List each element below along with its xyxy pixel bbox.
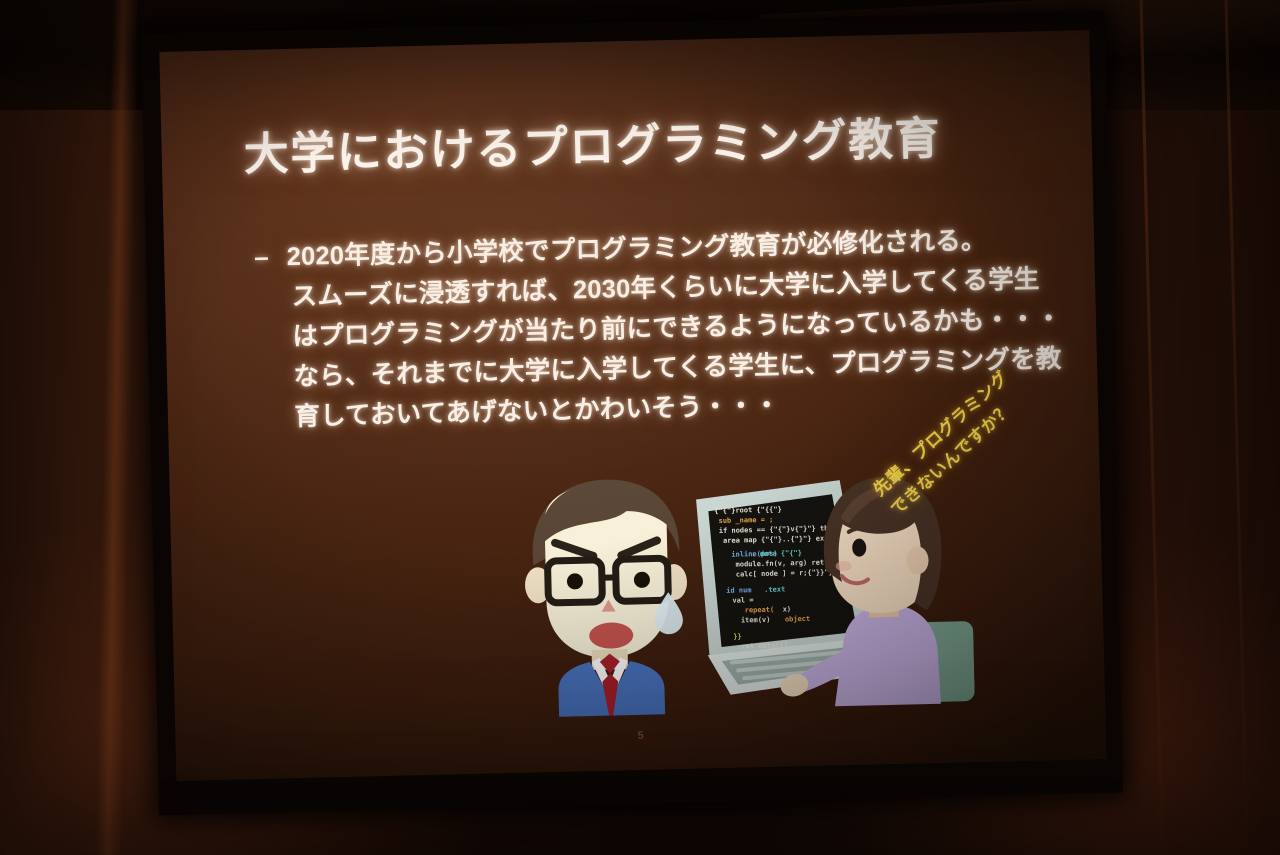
svg-text:x): x) [783, 605, 792, 613]
svg-text:.text: .text [764, 585, 785, 593]
svg-text:id num: id num [726, 586, 751, 595]
projection-screen: 大学におけるプログラミング教育 – 2020年度から小学校でプログラミング教育が… [141, 11, 1123, 815]
svg-text:}}: }} [733, 632, 742, 640]
slide-bullet-block: – 2020年度から小学校でプログラミング教育が必修化される。 スムーズに浸透す… [254, 219, 1058, 438]
woman-typing-scene: {"{"}root {"{{"} sub _name = ; if nodes … [689, 463, 975, 720]
photo-of-projected-slide: 大学におけるプログラミング教育 – 2020年度から小学校でプログラミング教育が… [0, 0, 1280, 855]
page-title: 大学におけるプログラミング教育 [243, 112, 1024, 180]
slide-surface: 大学におけるプログラミング教育 – 2020年度から小学校でプログラミング教育が… [159, 30, 1106, 781]
svg-text:{"{"}root {"{{"}: {"{"}root {"{{"} [714, 505, 782, 515]
slide-illustration: {"{"}root {"{{"} sub _name = ; if nodes … [499, 451, 1065, 734]
svg-text:repeat(: repeat( [745, 606, 775, 615]
svg-text:val =: val = [732, 596, 753, 604]
slide-body-text: 2020年度から小学校でプログラミング教育が必修化される。 スムーズに浸透すれば… [286, 219, 1064, 437]
worried-businessman-figure [509, 465, 705, 719]
svg-text:object: object [785, 615, 810, 624]
svg-text:sub _name = ;: sub _name = ; [718, 516, 773, 525]
bullet-dash-marker: – [254, 244, 269, 272]
svg-text:item(v): item(v) [741, 616, 771, 625]
svg-text:: data {"{"}: : data {"{"} [751, 549, 802, 558]
